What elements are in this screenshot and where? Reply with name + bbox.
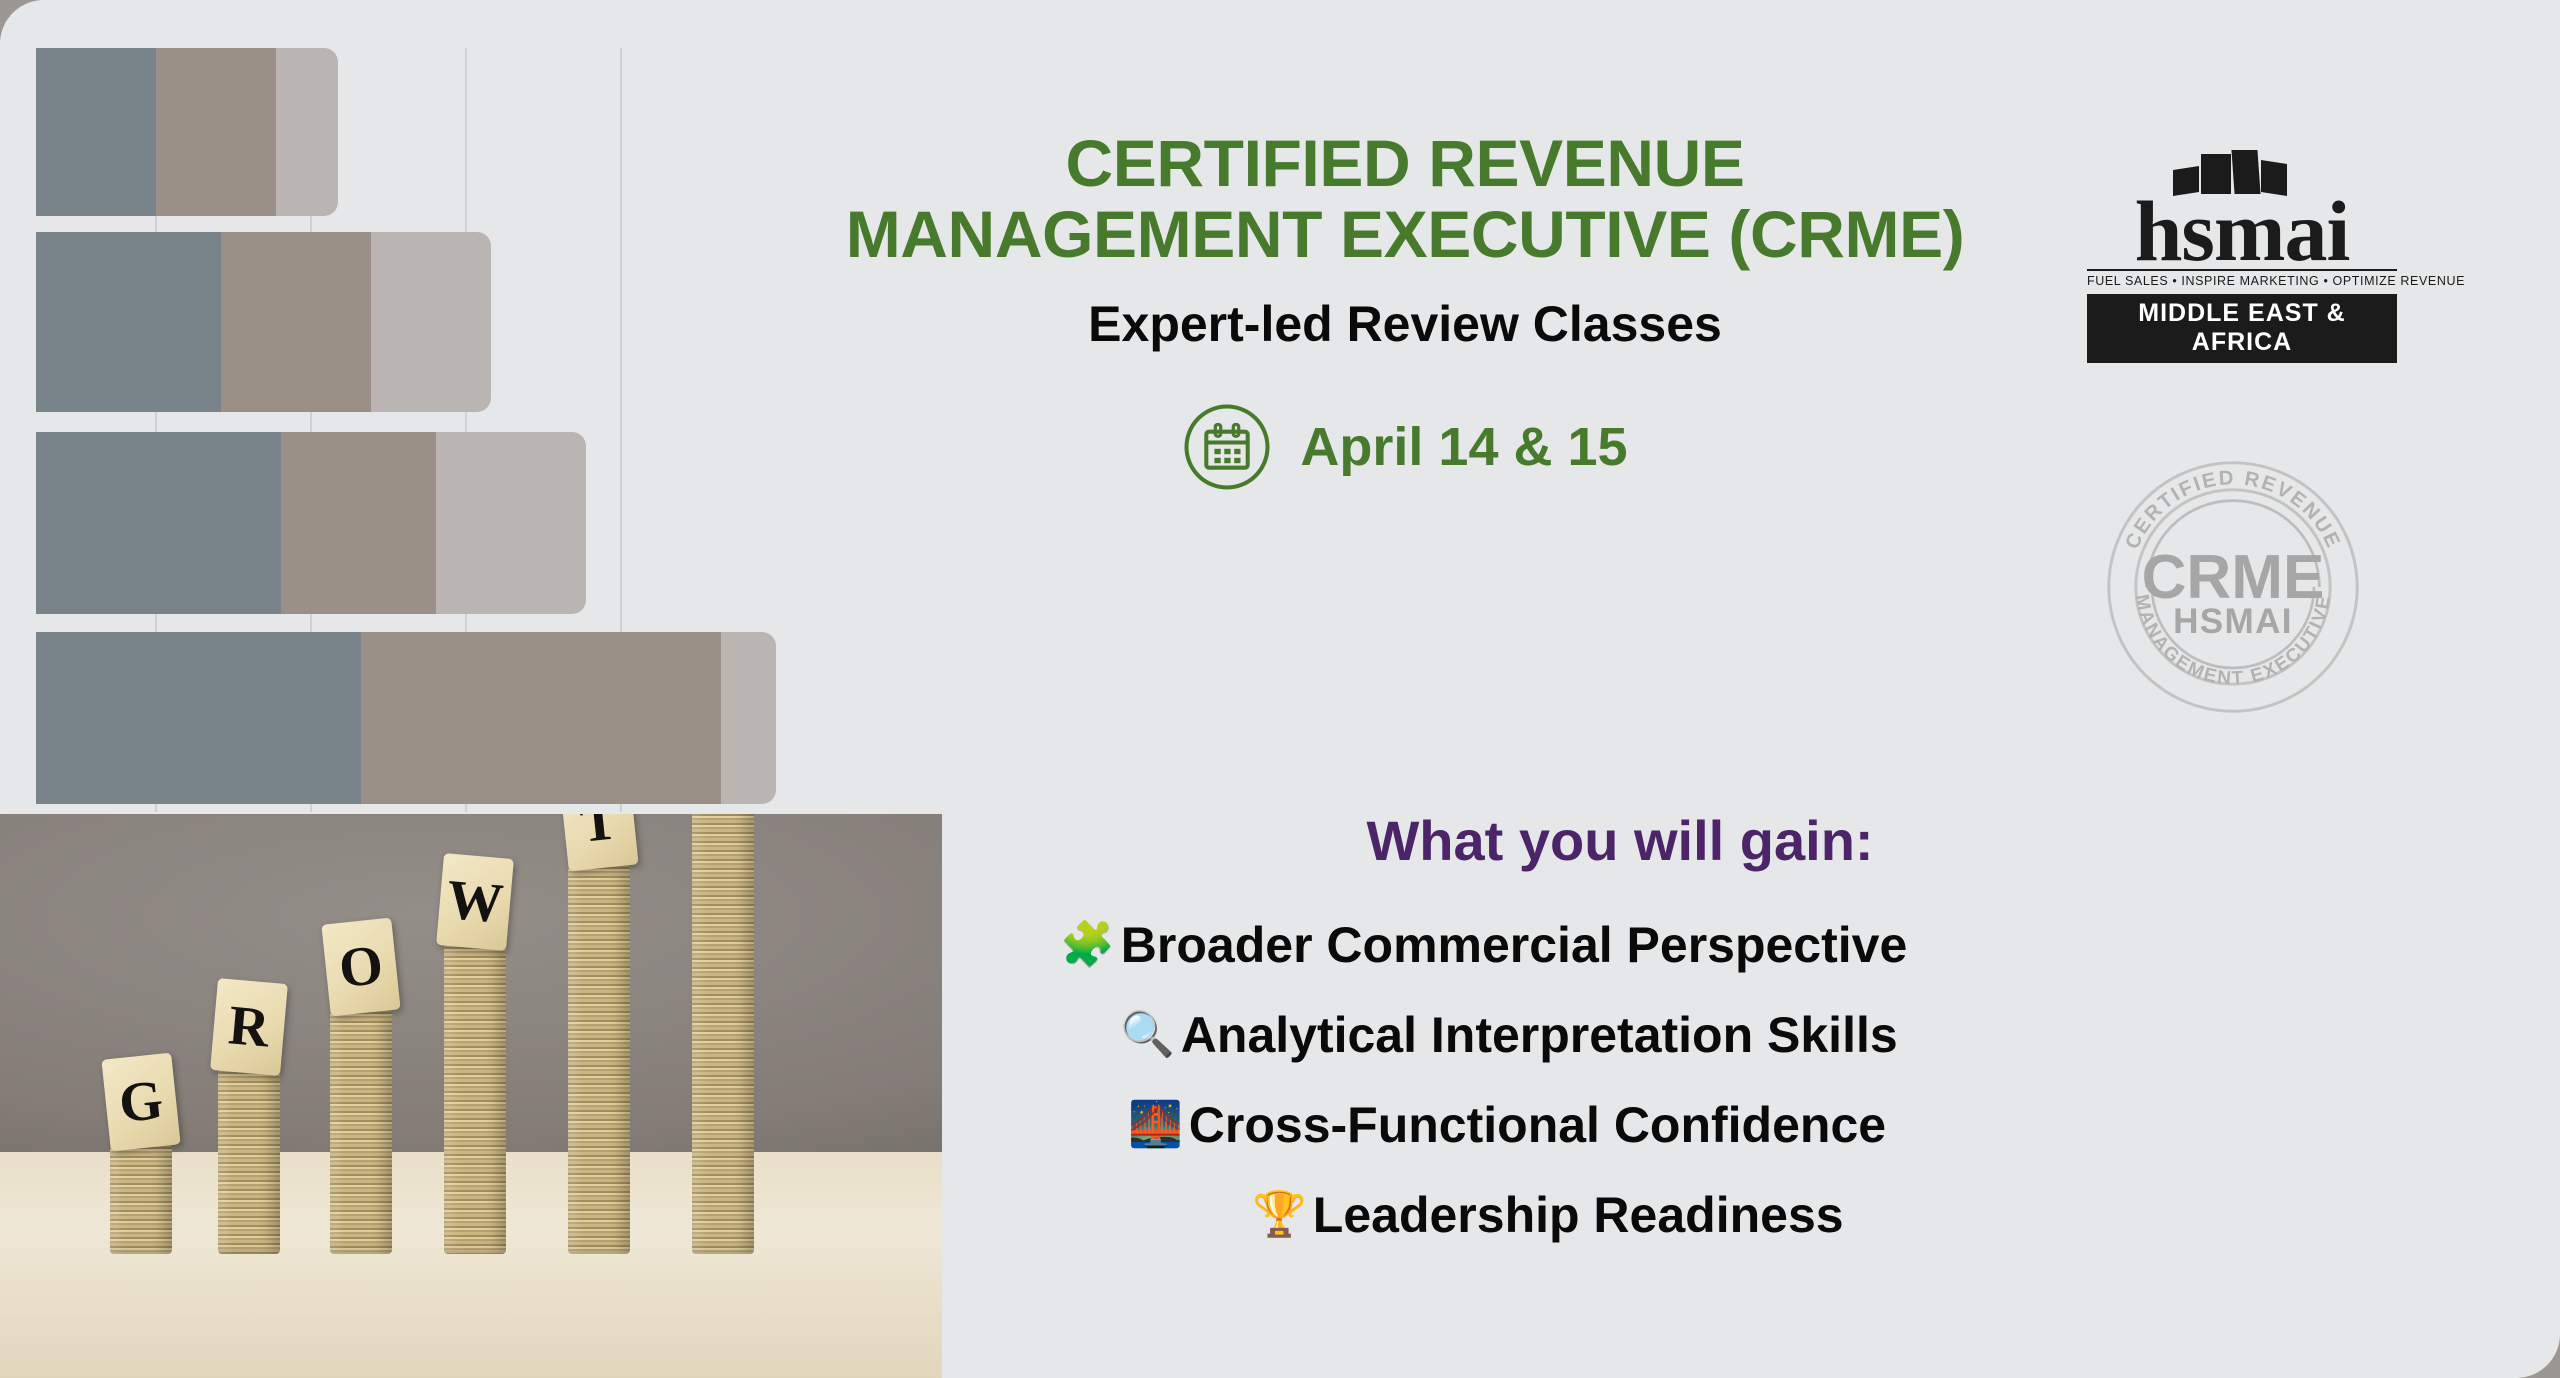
letter-tile: R — [210, 978, 288, 1076]
letter-tile: O — [321, 918, 400, 1017]
puzzle-piece-icon: 🧩 — [1060, 923, 1115, 967]
coin-column — [692, 814, 754, 1254]
crme-seal-arc-top: CERTIFIED REVENUE — [2121, 467, 2344, 552]
chart-bar-segment — [281, 432, 436, 614]
chart-bar-row — [36, 232, 491, 412]
coin-stacks-growth-photo: GROWTH — [0, 814, 942, 1378]
chart-bar-segment — [721, 632, 776, 804]
gain-list-item: 🌉Cross-Functional Confidence — [1060, 1080, 2220, 1170]
gain-item-label: Broader Commercial Perspective — [1121, 920, 1907, 970]
page-title: CERTIFIED REVENUE MANAGEMENT EXECUTIVE (… — [790, 128, 2020, 271]
chart-bar-segment — [36, 232, 221, 412]
gain-item-label: Cross-Functional Confidence — [1189, 1100, 1886, 1150]
gain-item-label: Analytical Interpretation Skills — [1181, 1010, 1898, 1060]
coin-column — [568, 864, 630, 1254]
page-title-line2: MANAGEMENT EXECUTIVE (CRME) — [790, 199, 2020, 270]
headline-block: CERTIFIED REVENUE MANAGEMENT EXECUTIVE (… — [790, 128, 2020, 352]
gain-item-label: Leadership Readiness — [1313, 1190, 1844, 1240]
chart-bar-row — [36, 632, 776, 804]
letter-tile: T — [559, 814, 638, 871]
chart-bar-segment — [436, 432, 586, 614]
event-date-row: April 14 & 15 — [790, 402, 2020, 492]
chart-bar-segment — [221, 232, 371, 412]
letter-tile: W — [436, 853, 514, 951]
bridge-at-night-icon: 🌉 — [1128, 1103, 1183, 1147]
chart-bar-segment — [371, 232, 491, 412]
banner-canvas: GROWTH CERTIFIED REVENUE MANAGEMENT EXEC… — [0, 0, 2560, 1378]
crme-seal: CERTIFIED REVENUE MANAGEMENT EXECUTIVE C… — [2098, 452, 2368, 722]
promo-banner: GROWTH CERTIFIED REVENUE MANAGEMENT EXEC… — [0, 0, 2560, 1378]
letter-tile: G — [101, 1053, 180, 1152]
page-subtitle: Expert-led Review Classes — [790, 297, 2020, 352]
coin-column — [218, 1069, 280, 1254]
hsmai-wordmark: hsmai — [2087, 196, 2397, 267]
coin-column — [110, 1144, 172, 1254]
magnifying-glass-icon: 🔍 — [1120, 1013, 1175, 1057]
chart-bar-segment — [156, 48, 276, 216]
gain-heading: What you will gain: — [1060, 808, 2180, 873]
hsmai-region-label: MIDDLE EAST & AFRICA — [2087, 294, 2397, 363]
decorative-bar-chart — [0, 0, 800, 812]
coin-column — [330, 1009, 392, 1254]
gain-list: 🧩Broader Commercial Perspective🔍Analytic… — [1060, 900, 2220, 1260]
chart-bar-row — [36, 432, 586, 614]
chart-bar-segment — [36, 632, 361, 804]
chart-bar-row — [36, 48, 338, 216]
event-date-text: April 14 & 15 — [1300, 416, 1627, 478]
page-title-line1: CERTIFIED REVENUE — [790, 128, 2020, 199]
chart-bar-segment — [36, 432, 281, 614]
trophy-icon: 🏆 — [1252, 1193, 1307, 1237]
chart-bar-segment — [36, 48, 156, 216]
crme-seal-center-secondary: HSMAI — [2173, 602, 2293, 641]
chart-bars — [0, 0, 800, 812]
hsmai-logo: hsmai FUEL SALES • INSPIRE MARKETING • O… — [2087, 150, 2397, 363]
gain-list-item: 🔍Analytical Interpretation Skills — [1060, 990, 2220, 1080]
coin-column — [444, 944, 506, 1254]
hsmai-buildings-icon — [2167, 150, 2317, 194]
gain-list-item: 🏆Leadership Readiness — [1060, 1170, 2220, 1260]
chart-bar-segment — [361, 632, 721, 804]
calendar-icon — [1182, 402, 1272, 492]
chart-bar-segment — [276, 48, 338, 216]
svg-text:CERTIFIED REVENUE: CERTIFIED REVENUE — [2121, 467, 2344, 552]
gain-list-item: 🧩Broader Commercial Perspective — [1060, 900, 2220, 990]
